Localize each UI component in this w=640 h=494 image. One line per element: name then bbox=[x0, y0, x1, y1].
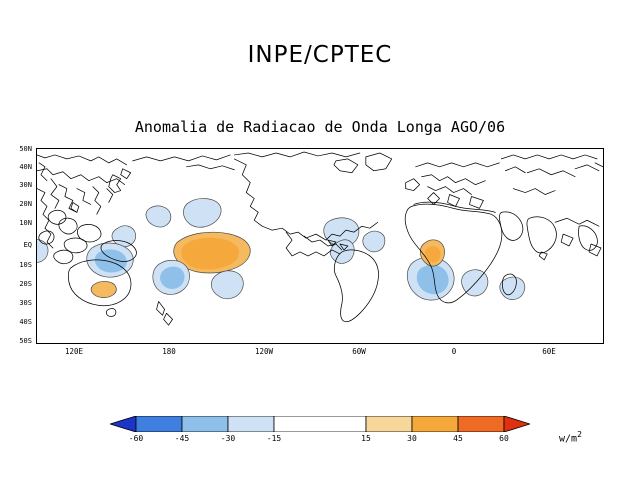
x-tick-label: 180 bbox=[149, 347, 189, 356]
y-tick-label: 50N bbox=[0, 145, 32, 153]
y-tick-label: 40N bbox=[0, 163, 32, 171]
x-tick-label: 60W bbox=[339, 347, 379, 356]
x-tick-label: 120E bbox=[54, 347, 94, 356]
colorbar-tick-label: 45 bbox=[443, 434, 473, 443]
y-tick-label: 30S bbox=[0, 299, 32, 307]
y-tick-label: EQ bbox=[0, 241, 32, 249]
y-tick-label: 20S bbox=[0, 280, 32, 288]
y-tick-label: 40S bbox=[0, 318, 32, 326]
colorbar-tick-label: -30 bbox=[213, 434, 243, 443]
y-tick-label: 10N bbox=[0, 219, 32, 227]
colorbar-tick-label: -15 bbox=[259, 434, 289, 443]
y-tick-label: 30N bbox=[0, 181, 32, 189]
y-tick-label: 20N bbox=[0, 200, 32, 208]
colorbar-svg bbox=[110, 416, 530, 432]
x-tick-label: 120W bbox=[244, 347, 284, 356]
colorbar-tick-label: 30 bbox=[397, 434, 427, 443]
colorbar-tick-label: 15 bbox=[351, 434, 381, 443]
page-title: INPE/CPTEC bbox=[0, 42, 640, 68]
y-tick-label: 10S bbox=[0, 261, 32, 269]
chart-title: Anomalia de Radiacao de Onda Longa AGO/0… bbox=[0, 118, 640, 136]
x-tick-label: 0 bbox=[434, 347, 474, 356]
colorbar-tick-label: -60 bbox=[121, 434, 151, 443]
units-exponent: 2 bbox=[577, 430, 582, 439]
units-label: w/m2 bbox=[559, 430, 582, 444]
x-tick-label: 60E bbox=[529, 347, 569, 356]
world-map-anomaly bbox=[37, 149, 603, 343]
colorbar-tick-label: -45 bbox=[167, 434, 197, 443]
colorbar-tick-label: 60 bbox=[489, 434, 519, 443]
units-text: w/m bbox=[559, 433, 577, 444]
map-plot-area bbox=[36, 148, 604, 344]
colorbar bbox=[110, 416, 530, 432]
y-tick-label: 50S bbox=[0, 337, 32, 345]
